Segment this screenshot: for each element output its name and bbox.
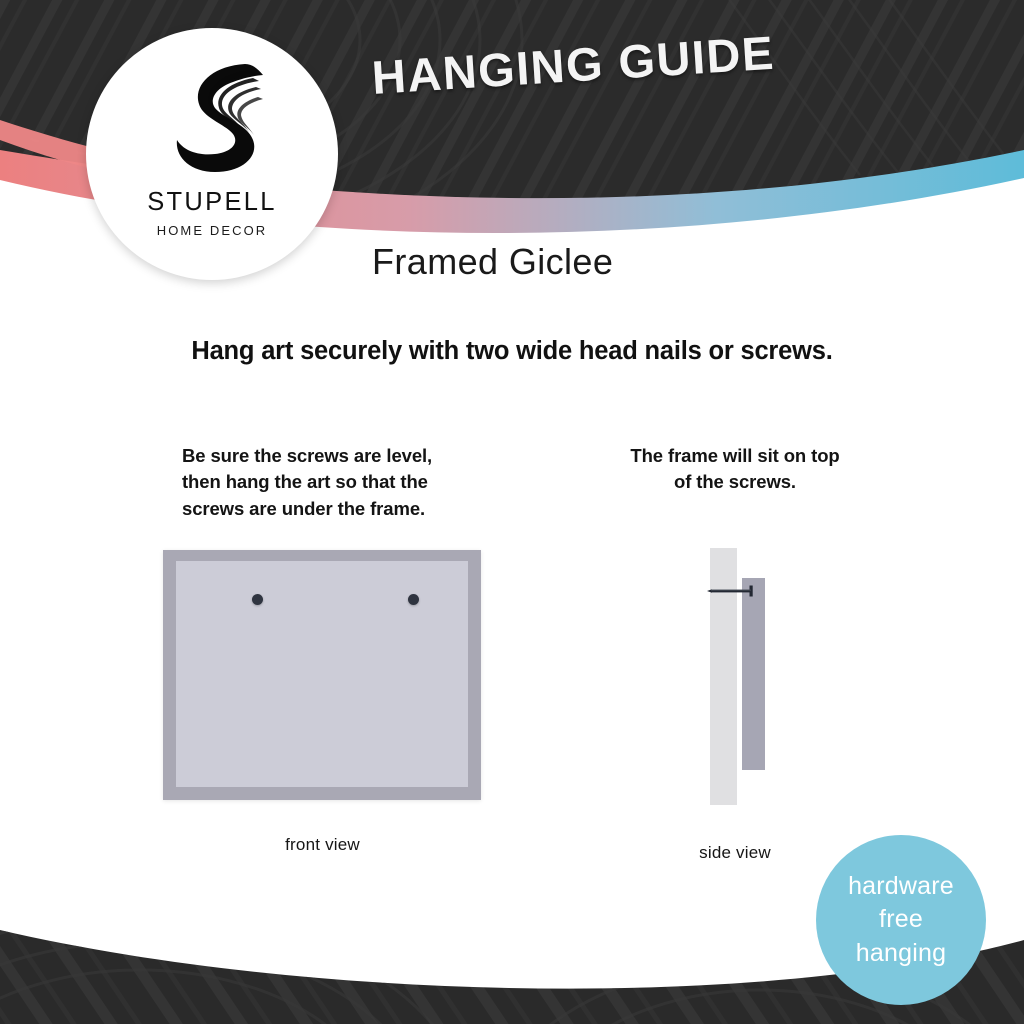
front-view-panel: Be sure the screws are level, then hang … [160,443,505,522]
side-view-caption-wrap: side view [595,843,875,863]
brand-tagline: HOME DECOR [157,224,268,237]
badge-line-3: hanging [856,937,946,970]
badge-line-1: hardware [848,870,954,903]
screw-dot-right [408,594,419,605]
front-view-instruction: Be sure the screws are level, then hang … [160,443,505,522]
front-view-mat [176,561,468,787]
front-view-caption-wrap: front view [160,835,485,855]
framed-art-front-view-icon [163,550,481,800]
hanging-guide-page: STUPELL HOME DECOR HANGING GUIDE Framed … [0,0,1024,1024]
screw-dot-left [252,594,263,605]
side-view-panel: The frame will sit on top of the screws. [590,443,880,496]
framed-art-side-view-icon [700,548,810,810]
brand-logo-badge: STUPELL HOME DECOR [86,28,338,280]
lead-instruction: Hang art securely with two wide head nai… [0,337,1024,366]
front-view-caption: front view [160,835,485,855]
product-type-label: Framed Giclee [372,241,613,283]
nail-icon [705,584,761,598]
page-title: HANGING GUIDE [370,25,776,105]
brand-name: STUPELL [147,190,276,216]
badge-line-2: free [879,903,923,936]
side-view-caption: side view [595,843,875,863]
side-view-frame [742,578,765,770]
hardware-free-hanging-badge: hardware free hanging [816,835,986,1005]
stupell-swirl-logo-icon [153,56,271,181]
side-view-instruction: The frame will sit on top of the screws. [590,443,880,496]
